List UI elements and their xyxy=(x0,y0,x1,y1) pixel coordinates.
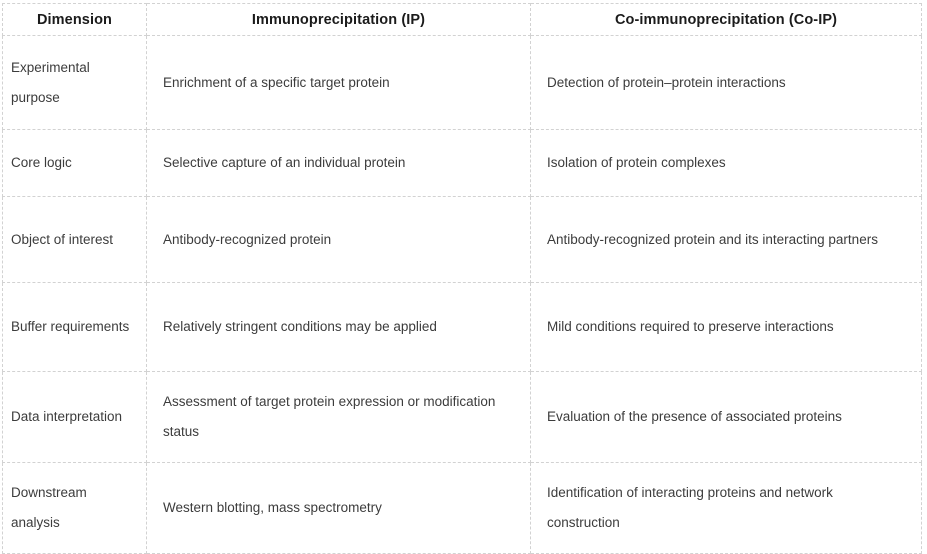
table-row: Core logic Selective capture of an indiv… xyxy=(3,130,922,197)
column-header-dimension: Dimension xyxy=(3,4,147,36)
cell-coip-experimental-purpose: Detection of protein–protein interaction… xyxy=(531,36,922,130)
cell-coip-data-interpretation: Evaluation of the presence of associated… xyxy=(531,372,922,463)
table-row: Data interpretation Assessment of target… xyxy=(3,372,922,463)
table-header: Dimension Immunoprecipitation (IP) Co-im… xyxy=(3,4,922,36)
cell-dimension-buffer-requirements: Buffer requirements xyxy=(3,283,147,372)
table-row: Buffer requirements Relatively stringent… xyxy=(3,283,922,372)
cell-coip-downstream-analysis: Identification of interacting proteins a… xyxy=(531,463,922,554)
cell-dimension-core-logic: Core logic xyxy=(3,130,147,197)
cell-ip-downstream-analysis: Western blotting, mass spectrometry xyxy=(147,463,531,554)
cell-dimension-experimental-purpose: Experimental purpose xyxy=(3,36,147,130)
ip-vs-coip-comparison-table: Dimension Immunoprecipitation (IP) Co-im… xyxy=(2,3,922,554)
cell-dimension-object-of-interest: Object of interest xyxy=(3,197,147,283)
cell-ip-experimental-purpose: Enrichment of a specific target protein xyxy=(147,36,531,130)
cell-dimension-data-interpretation: Data interpretation xyxy=(3,372,147,463)
table-row: Downstream analysis Western blotting, ma… xyxy=(3,463,922,554)
cell-coip-buffer-requirements: Mild conditions required to preserve int… xyxy=(531,283,922,372)
table-row: Experimental purpose Enrichment of a spe… xyxy=(3,36,922,130)
table-header-row: Dimension Immunoprecipitation (IP) Co-im… xyxy=(3,4,922,36)
cell-dimension-downstream-analysis: Downstream analysis xyxy=(3,463,147,554)
cell-ip-core-logic: Selective capture of an individual prote… xyxy=(147,130,531,197)
table-body: Experimental purpose Enrichment of a spe… xyxy=(3,36,922,554)
column-header-immunoprecipitation: Immunoprecipitation (IP) xyxy=(147,4,531,36)
cell-ip-data-interpretation: Assessment of target protein expression … xyxy=(147,372,531,463)
cell-ip-buffer-requirements: Relatively stringent conditions may be a… xyxy=(147,283,531,372)
table-row: Object of interest Antibody-recognized p… xyxy=(3,197,922,283)
column-header-co-immunoprecipitation: Co-immunoprecipitation (Co-IP) xyxy=(531,4,922,36)
cell-ip-object-of-interest: Antibody-recognized protein xyxy=(147,197,531,283)
cell-coip-object-of-interest: Antibody-recognized protein and its inte… xyxy=(531,197,922,283)
cell-coip-core-logic: Isolation of protein complexes xyxy=(531,130,922,197)
